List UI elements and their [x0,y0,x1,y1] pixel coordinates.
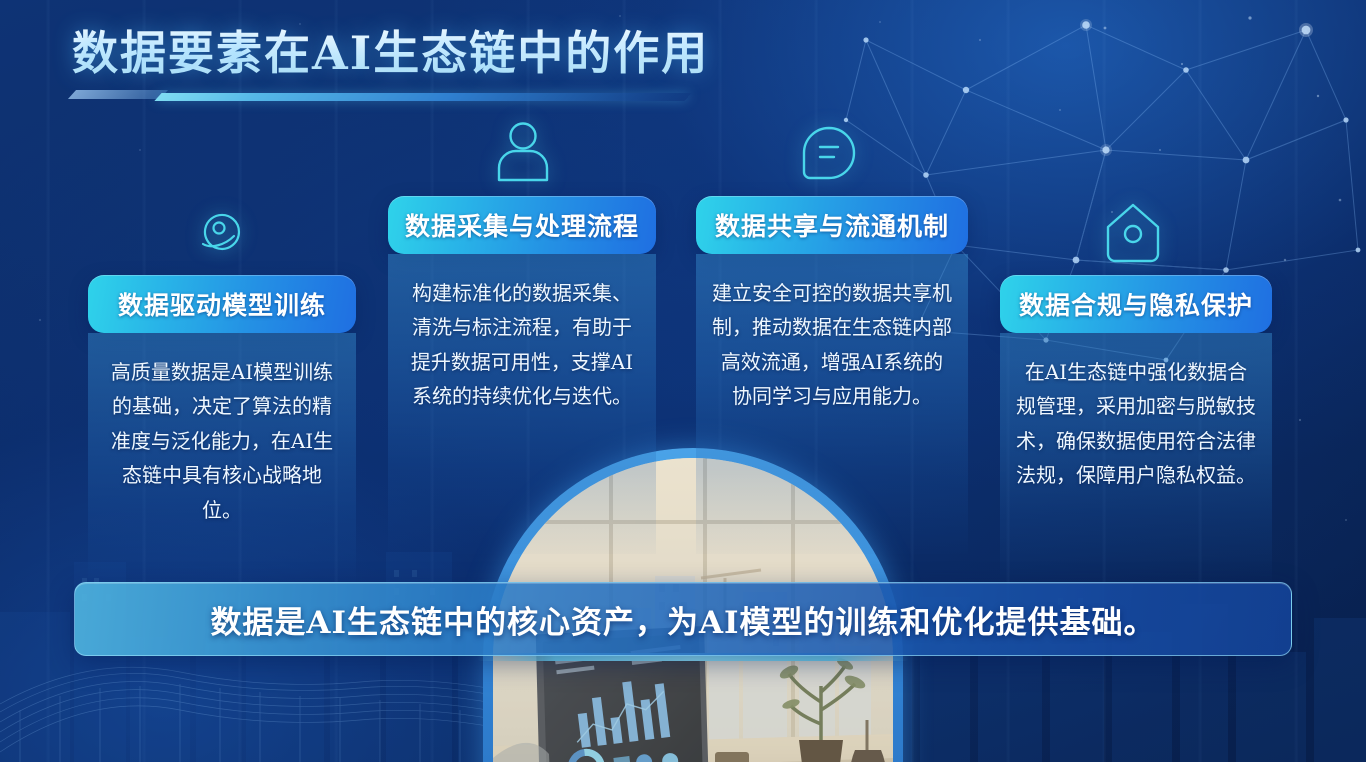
user-icon [492,120,554,186]
card-collection-processing[interactable]: 数据采集与处理流程 构建标准化的数据采集、清洗与标注流程，有助于提升数据可用性，… [388,196,656,554]
card-body: 高质量数据是AI模型训练的基础，决定了算法的精准度与泛化能力，在AI生态链中具有… [88,333,356,583]
card-header: 数据驱动模型训练 [88,275,356,333]
card-compliance-privacy[interactable]: 数据合规与隐私保护 在AI生态链中强化数据合规管理，采用加密与脱敏技术，确保数据… [1000,275,1272,583]
card-header: 数据共享与流通机制 [696,196,968,254]
home-icon [1104,200,1162,266]
card-body-text: 建立安全可控的数据共享机制，推动数据在生态链内部高效流通，增强AI系统的协同学习… [712,276,952,414]
card-header-label: 数据共享与流通机制 [715,207,949,243]
chat-bubble-icon [800,124,858,182]
card-header-label: 数据合规与隐私保护 [1019,286,1253,322]
card-body: 建立安全可控的数据共享机制，推动数据在生态链内部高效流通，增强AI系统的协同学习… [696,254,968,554]
title-block: 数据要素在AI生态链中的作用 [72,24,709,102]
title-underline-segment-right [154,93,691,101]
title-underline-segment-left [68,90,168,99]
card-body-text: 构建标准化的数据采集、清洗与标注流程，有助于提升数据可用性，支撑AI系统的持续优… [404,276,640,414]
summary-banner-text: 数据是AI生态链中的核心资产，为AI模型的训练和优化提供基础。 [210,597,1155,642]
card-sharing-circulation[interactable]: 数据共享与流通机制 建立安全可控的数据共享机制，推动数据在生态链内部高效流通，增… [696,196,968,554]
card-header-label: 数据采集与处理流程 [405,207,639,243]
card-body: 在AI生态链中强化数据合规管理，采用加密与脱敏技术，确保数据使用符合法律法规，保… [1000,333,1272,583]
summary-banner: 数据是AI生态链中的核心资产，为AI模型的训练和优化提供基础。 [74,582,1292,656]
slide-canvas: 数据要素在AI生态链中的作用 [0,0,1366,762]
card-header-label: 数据驱动模型训练 [118,286,326,322]
card-data-driven-training[interactable]: 数据驱动模型训练 高质量数据是AI模型训练的基础，决定了算法的精准度与泛化能力，… [88,275,356,583]
card-body-text: 高质量数据是AI模型训练的基础，决定了算法的精准度与泛化能力，在AI生态链中具有… [104,355,340,527]
title-underline [72,90,692,102]
card-header: 数据采集与处理流程 [388,196,656,254]
card-body-text: 在AI生态链中强化数据合规管理，采用加密与脱敏技术，确保数据使用符合法律法规，保… [1016,355,1256,493]
page-title: 数据要素在AI生态链中的作用 [72,24,709,84]
planet-icon [186,200,252,266]
card-header: 数据合规与隐私保护 [1000,275,1272,333]
card-body: 构建标准化的数据采集、清洗与标注流程，有助于提升数据可用性，支撑AI系统的持续优… [388,254,656,554]
